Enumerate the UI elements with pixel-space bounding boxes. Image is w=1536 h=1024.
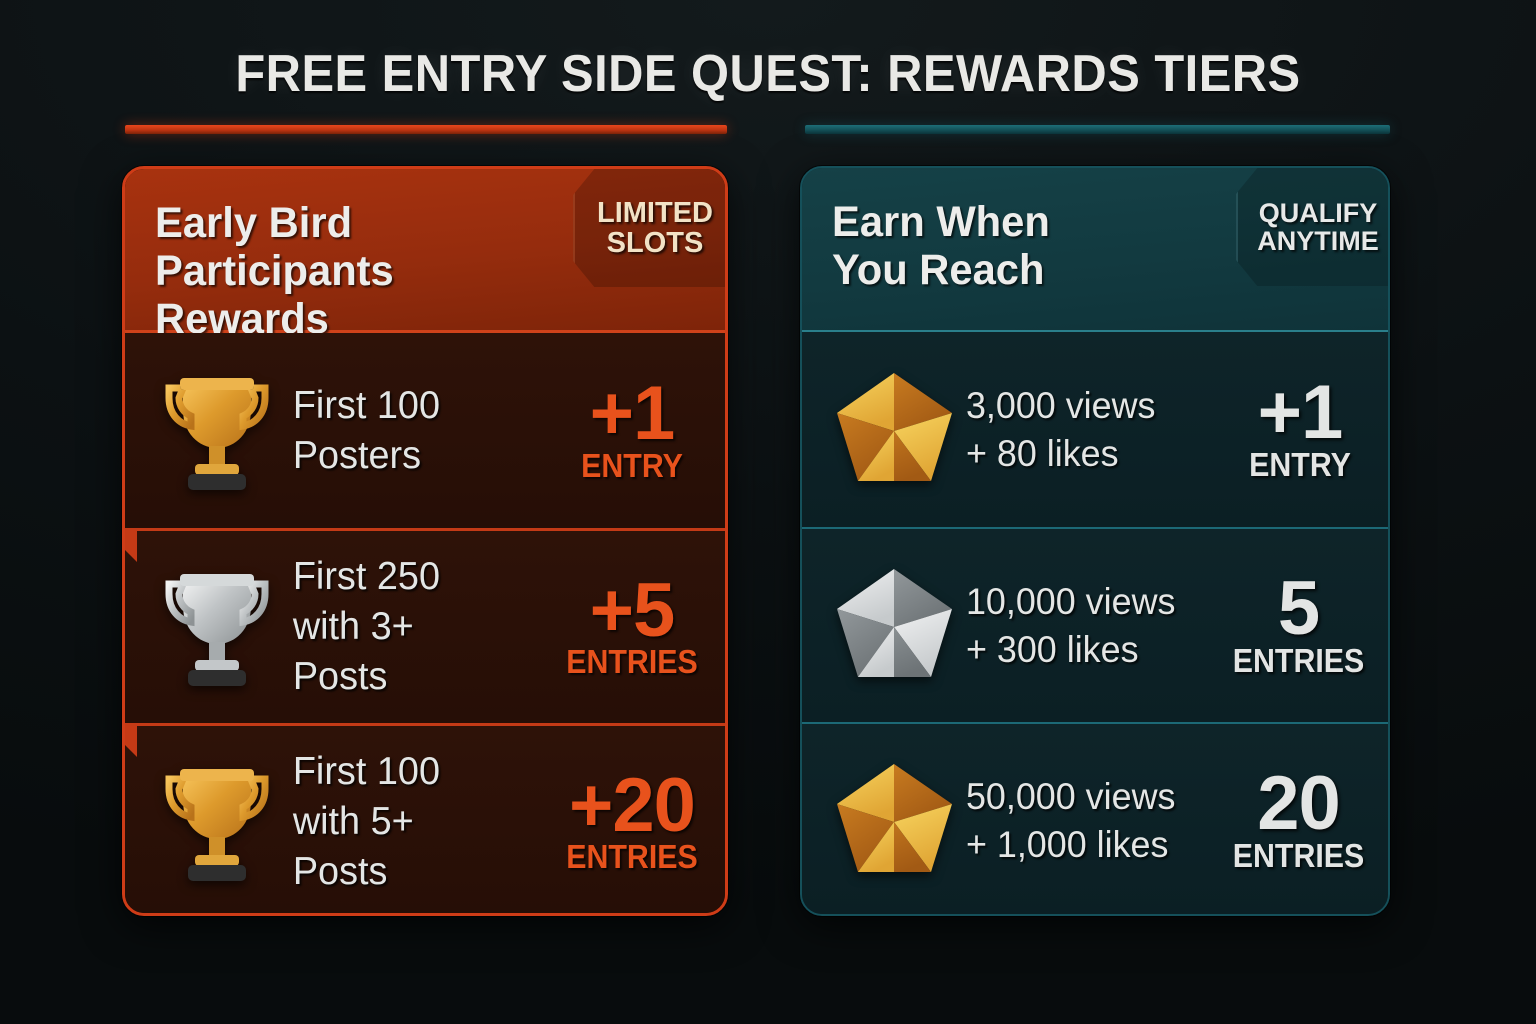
tier-requirement: 50,000 views + 1,000 likes bbox=[964, 773, 1233, 868]
tier-list-early-bird: First 100 Posters +1 ENTRY bbox=[125, 333, 725, 916]
card-heading-line2: Participants Rewards bbox=[155, 247, 572, 343]
badge-line2: ANYTIME bbox=[1257, 227, 1379, 255]
tier-award-unit: ENTRIES bbox=[1233, 644, 1365, 677]
tier-award-unit: ENTRY bbox=[1236, 448, 1365, 481]
tier-award-unit: ENTRY bbox=[563, 449, 701, 482]
badge-line2: SLOTS bbox=[607, 228, 704, 258]
tier-requirement: First 100 Posters bbox=[287, 381, 555, 481]
card-heading-earn: Earn When You Reach bbox=[832, 198, 1249, 294]
card-heading-early-bird: Early Bird Participants Rewards bbox=[155, 199, 572, 343]
tier-award: +1 ENTRY bbox=[1230, 378, 1370, 481]
tier-requirement-line1: 3,000 views bbox=[966, 382, 1236, 429]
star-silver-icon bbox=[824, 565, 964, 687]
tier-requirement-line1: First 100 bbox=[293, 747, 555, 797]
tier-award-unit: ENTRIES bbox=[563, 645, 701, 678]
tier-requirement-line2: + 80 likes bbox=[966, 430, 1236, 477]
tier-award-value: 20 bbox=[1227, 769, 1370, 839]
card-header-early-bird: Early Bird Participants Rewards LIMITED … bbox=[125, 169, 725, 333]
tier-row[interactable]: 50,000 views + 1,000 likes 20 ENTRIES bbox=[802, 722, 1388, 916]
tier-award: 5 ENTRIES bbox=[1227, 574, 1370, 677]
tier-requirement-line1: 50,000 views bbox=[966, 773, 1233, 820]
card-heading-line2: You Reach bbox=[832, 246, 1249, 294]
tier-requirement-line2: + 1,000 likes bbox=[966, 821, 1233, 868]
tier-award-value: +20 bbox=[557, 771, 707, 841]
card-heading-line1: Early Bird bbox=[155, 199, 572, 247]
tier-requirement: First 100 with 5+ Posts bbox=[287, 747, 555, 897]
card-header-earn: Earn When You Reach QUALIFY ANYTIME bbox=[802, 168, 1388, 332]
tier-list-earn: 3,000 views + 80 likes +1 ENTRY bbox=[802, 332, 1388, 916]
tier-row[interactable]: First 100 with 5+ Posts +20 ENTRIES bbox=[125, 723, 725, 916]
tier-requirement-line2: with 5+ bbox=[293, 797, 555, 847]
tier-requirement-line2: with 3+ bbox=[293, 602, 555, 652]
card-early-bird: Early Bird Participants Rewards LIMITED … bbox=[122, 166, 728, 916]
tier-requirement-line1: First 250 bbox=[293, 552, 555, 602]
title-underline-right bbox=[805, 125, 1390, 134]
tier-row[interactable]: 10,000 views + 300 likes 5 ENTRIES bbox=[802, 527, 1388, 722]
badge-qualify-anytime: QUALIFY ANYTIME bbox=[1236, 168, 1388, 286]
tier-row[interactable]: First 100 Posters +1 ENTRY bbox=[125, 333, 725, 528]
tier-award: +1 ENTRY bbox=[557, 379, 707, 482]
tier-award-value: 5 bbox=[1227, 574, 1370, 644]
tier-award-value: +1 bbox=[557, 379, 707, 449]
badge-line1: LIMITED bbox=[597, 198, 713, 228]
tier-row[interactable]: 3,000 views + 80 likes +1 ENTRY bbox=[802, 332, 1388, 527]
tier-requirement-line2: + 300 likes bbox=[966, 626, 1233, 673]
badge-line1: QUALIFY bbox=[1259, 199, 1378, 227]
trophy-gold-icon bbox=[147, 366, 287, 496]
tier-award-value: +5 bbox=[557, 576, 707, 646]
card-heading-line1: Earn When bbox=[832, 198, 1249, 246]
tier-requirement-line1: 10,000 views bbox=[966, 578, 1233, 625]
tier-award: +20 ENTRIES bbox=[557, 771, 707, 874]
tier-requirement-line3: Posts bbox=[293, 847, 555, 897]
tier-award-unit: ENTRIES bbox=[1233, 839, 1365, 872]
tier-requirement-line1: First 100 bbox=[293, 381, 555, 431]
tier-award: 20 ENTRIES bbox=[1227, 769, 1370, 872]
tier-award-value: +1 bbox=[1230, 378, 1370, 448]
tier-row[interactable]: First 250 with 3+ Posts +5 ENTRIES bbox=[125, 528, 725, 723]
tier-award: +5 ENTRIES bbox=[557, 576, 707, 679]
tier-requirement-line2: Posters bbox=[293, 431, 555, 481]
tier-requirement-line3: Posts bbox=[293, 652, 555, 702]
tier-requirement: First 250 with 3+ Posts bbox=[287, 552, 555, 702]
infographic-canvas: FREE ENTRY SIDE QUEST: REWARDS TIERS Ear… bbox=[0, 0, 1536, 1024]
tier-requirement: 10,000 views + 300 likes bbox=[964, 578, 1233, 673]
trophy-gold-icon bbox=[147, 757, 287, 887]
badge-limited-slots: LIMITED SLOTS bbox=[573, 169, 725, 287]
tier-requirement: 3,000 views + 80 likes bbox=[964, 382, 1236, 477]
tier-award-unit: ENTRIES bbox=[563, 840, 701, 873]
card-earn-when-you-reach: Earn When You Reach QUALIFY ANYTIME bbox=[800, 166, 1390, 916]
title-underline-left bbox=[125, 125, 727, 134]
page-title: FREE ENTRY SIDE QUEST: REWARDS TIERS bbox=[46, 44, 1490, 104]
star-gold-icon bbox=[824, 369, 964, 491]
trophy-silver-icon bbox=[147, 562, 287, 692]
star-gold-icon bbox=[824, 760, 964, 882]
